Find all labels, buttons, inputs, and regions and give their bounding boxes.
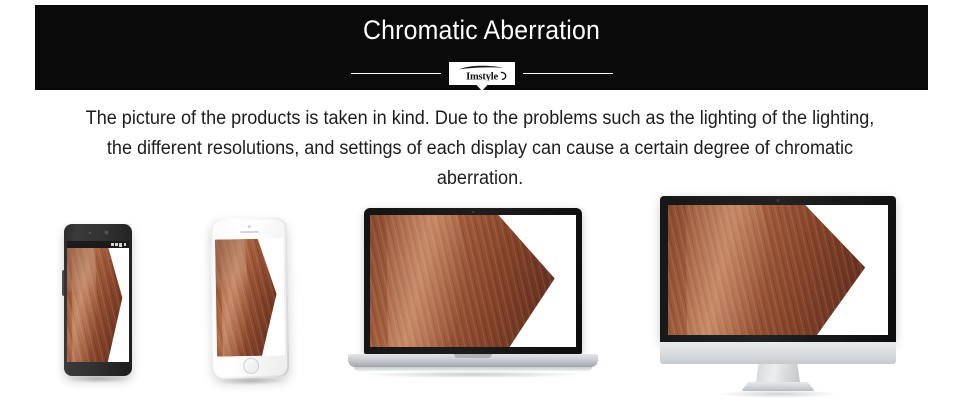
- hair-product-image: [67, 241, 129, 362]
- chromatic-aberration-description: The picture of the products is taken in …: [72, 104, 889, 194]
- laptop-base: [348, 354, 598, 367]
- android-screen: [67, 241, 129, 362]
- earpiece-speaker-icon: [239, 231, 258, 234]
- signal-icon: [115, 243, 118, 246]
- android-status-bar: [67, 241, 129, 248]
- hair-strands: [370, 215, 565, 347]
- hair-product-image: [668, 205, 888, 335]
- device-laptop: [348, 208, 598, 378]
- sensor-icon: [89, 232, 91, 234]
- hair-product-image: [370, 215, 576, 347]
- hair-strands: [215, 238, 280, 356]
- triangle-down-icon: [473, 81, 491, 90]
- device-desktop-monitor: [660, 196, 896, 396]
- device-showcase-row: [0, 190, 960, 415]
- webcam-icon: [472, 211, 475, 214]
- divider-rule-right: [523, 73, 613, 74]
- webcam-icon: [777, 199, 780, 202]
- monitor-screen: [668, 205, 888, 335]
- device-shadow: [719, 390, 837, 398]
- laptop-lid: [364, 208, 582, 354]
- iphone-screen: [215, 238, 285, 356]
- device-shadow: [68, 375, 128, 383]
- divider-rule-left: [351, 73, 441, 74]
- hair-product-image: [215, 238, 285, 356]
- monitor-chin: [660, 342, 896, 364]
- battery-icon: [119, 243, 122, 247]
- hair-strands: [668, 205, 876, 335]
- monitor-bezel: [660, 196, 896, 342]
- monitor-stand-neck: [756, 364, 800, 382]
- android-earpiece-row: [64, 224, 132, 241]
- front-camera-icon: [105, 231, 108, 234]
- hair-strands: [67, 241, 127, 362]
- volume-button: [62, 270, 64, 296]
- iphone-top-row: [211, 219, 287, 238]
- front-camera-icon: [247, 225, 250, 228]
- android-chin: [64, 362, 132, 376]
- laptop-notch: [454, 354, 492, 358]
- device-shadow: [362, 371, 584, 378]
- laptop-screen: [370, 215, 576, 347]
- device-ios-phone: [211, 217, 290, 378]
- device-android-phone: [64, 224, 132, 376]
- chromatic-aberration-banner: Chromatic Aberration Imstyle: [35, 5, 928, 90]
- wifi-icon: [111, 243, 114, 246]
- page-title: Chromatic Aberration: [71, 15, 893, 46]
- clock-icon: [124, 243, 127, 246]
- device-shadow: [218, 376, 285, 385]
